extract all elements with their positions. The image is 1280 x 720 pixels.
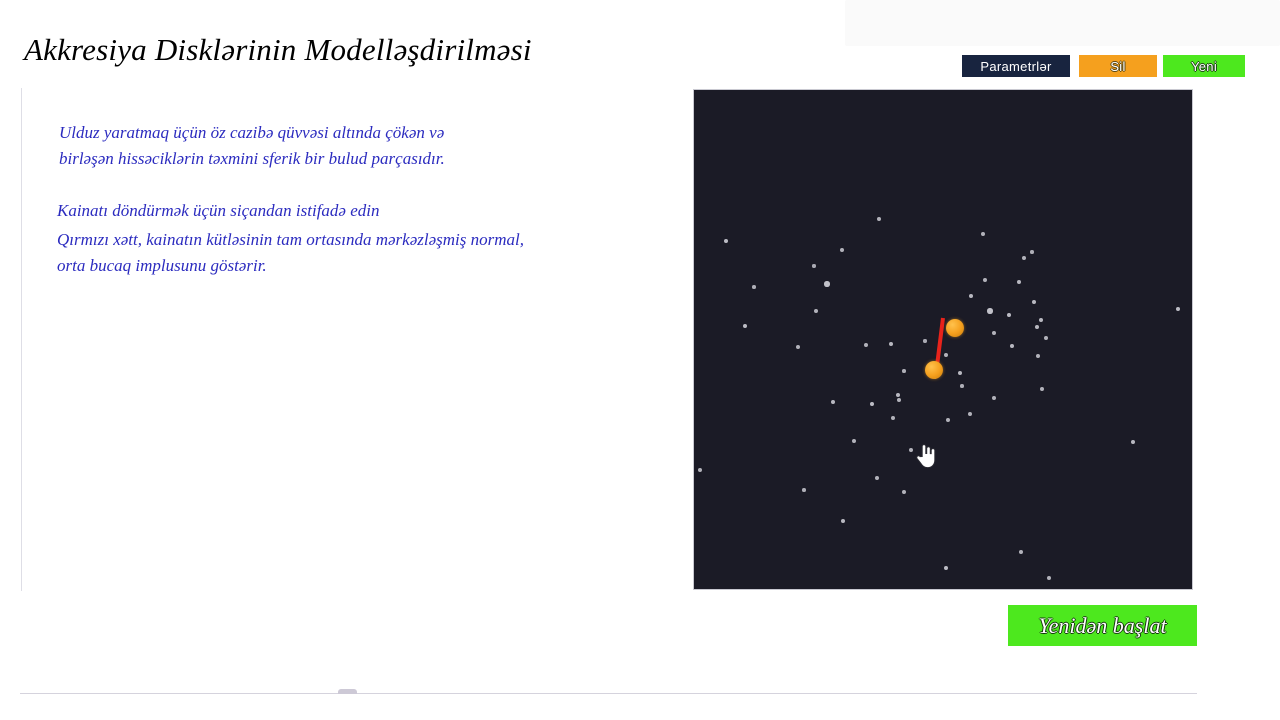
particle [802, 488, 806, 492]
particle [1039, 318, 1043, 322]
particle [724, 239, 729, 244]
particle [981, 232, 985, 236]
particle [902, 369, 906, 373]
description-paragraph-1: Ulduz yaratmaq üçün öz cazibə qüvvəsi al… [59, 120, 657, 172]
parameters-button[interactable]: Parametrlər [962, 55, 1070, 77]
particle [909, 448, 913, 452]
particle [968, 412, 972, 416]
particle [923, 339, 926, 342]
particle [852, 439, 856, 443]
particle [814, 309, 818, 313]
app-root: Akkresiya Disklərinin Modelləşdirilməsi … [0, 0, 1280, 720]
particle [841, 519, 845, 523]
delete-button[interactable]: Sil [1079, 55, 1157, 77]
particle [889, 342, 893, 346]
particle [1032, 300, 1036, 304]
particle [1036, 354, 1040, 358]
particle [743, 324, 748, 329]
particle-field [694, 90, 1192, 589]
particle [1131, 440, 1135, 444]
particle [840, 248, 844, 252]
particle [944, 353, 948, 357]
particle [1017, 280, 1021, 284]
particle [992, 331, 996, 335]
particle [1176, 307, 1181, 312]
particle [812, 264, 815, 267]
particle [896, 393, 900, 397]
particle [1040, 387, 1044, 391]
particle [958, 371, 962, 375]
particle [960, 384, 964, 388]
particle [987, 308, 992, 313]
particle [824, 281, 829, 286]
description-text-block: Ulduz yaratmaq üçün öz cazibə qüvvəsi al… [57, 120, 657, 279]
description-paragraph-3: Qırmızı xətt, kainatın kütləsinin tam or… [57, 227, 657, 279]
particle [1035, 325, 1039, 329]
background-panel [845, 0, 1280, 46]
particle [983, 278, 987, 282]
particle [1010, 344, 1014, 348]
particle [897, 398, 901, 402]
toolbar: Parametrlər Sil Yeni [962, 55, 1245, 77]
particle [864, 343, 868, 347]
accreting-body [925, 361, 943, 379]
footer-divider [20, 693, 1197, 694]
description-paragraph-2: Kainatı döndürmək üçün siçandan istifadə… [57, 198, 657, 224]
particle [902, 490, 906, 494]
particle [891, 416, 895, 420]
page-title: Akkresiya Disklərinin Modelləşdirilməsi [24, 28, 532, 72]
particle [870, 402, 875, 407]
particle [946, 418, 950, 422]
particle [877, 217, 881, 221]
particle [1007, 313, 1012, 318]
restart-button[interactable]: Yenidən başlat [1008, 605, 1197, 646]
particle [969, 294, 973, 298]
particle [875, 476, 879, 480]
description-panel: Ulduz yaratmaq üçün öz cazibə qüvvəsi al… [21, 88, 671, 591]
particle [831, 400, 835, 404]
particle [1047, 576, 1051, 580]
particle [1022, 256, 1026, 260]
particle [1019, 550, 1023, 554]
particle [752, 285, 756, 289]
angular-momentum-line [935, 318, 945, 366]
accreting-body [946, 319, 964, 337]
particle [992, 396, 996, 400]
particle [796, 345, 800, 349]
particle [944, 566, 949, 571]
footer-drag-handle[interactable] [338, 689, 357, 694]
simulation-canvas[interactable] [693, 89, 1193, 590]
particle [698, 468, 702, 472]
particle [1044, 336, 1048, 340]
new-button[interactable]: Yeni [1163, 55, 1245, 77]
particle [1030, 250, 1034, 254]
